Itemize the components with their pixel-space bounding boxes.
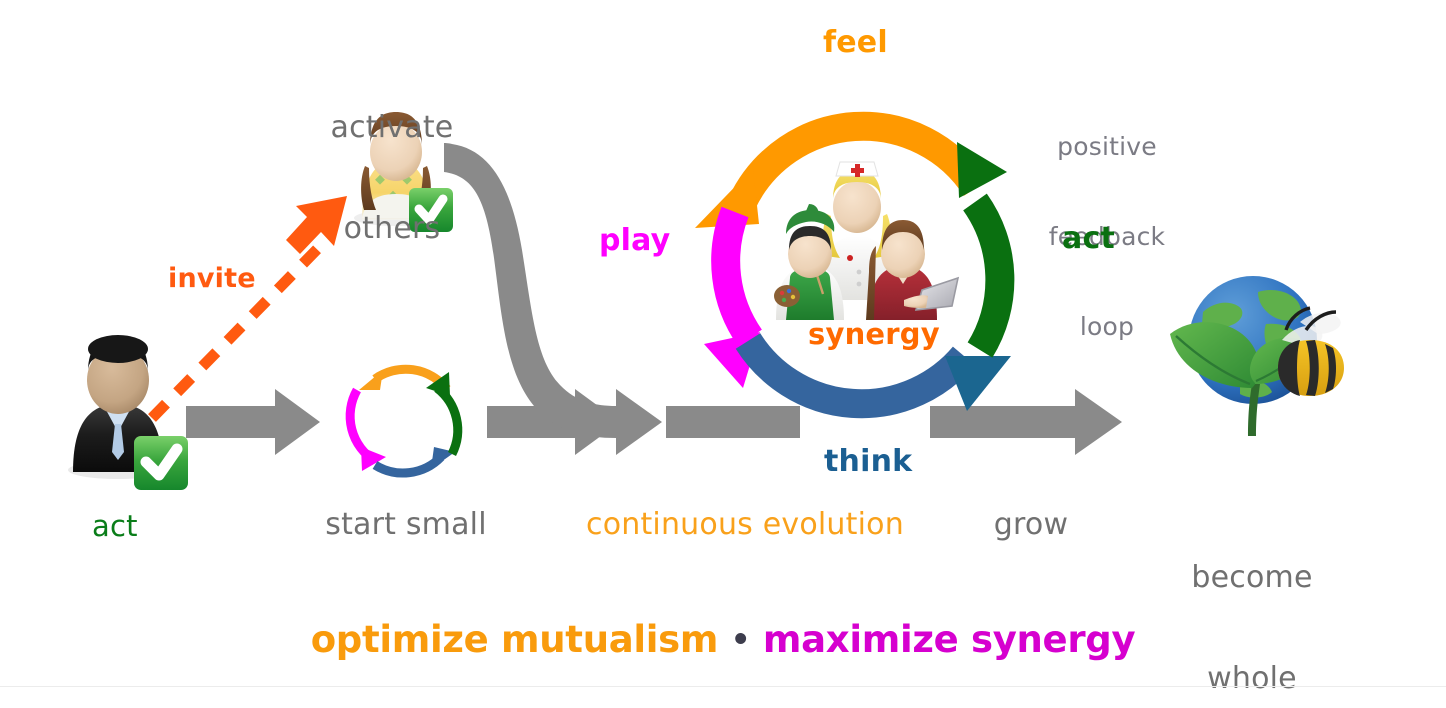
caption-maximize-synergy: maximize synergy xyxy=(763,618,1135,661)
stage-label-act: act xyxy=(92,510,138,542)
activate-others-line1: activate xyxy=(292,111,492,145)
label-invite: invite xyxy=(168,264,256,294)
cycle-label-play: play xyxy=(599,224,670,258)
bottom-divider xyxy=(0,686,1446,687)
bottom-caption: optimize mutualism • maximize synergy xyxy=(0,618,1446,661)
diagram-canvas: activate others invite positive feedback… xyxy=(0,0,1446,708)
caption-optimize-mutualism: optimize mutualism xyxy=(311,618,718,661)
cycle-label-act: act xyxy=(1062,222,1115,256)
people-group-icon xyxy=(774,162,958,320)
become-whole-line2: whole xyxy=(1162,662,1342,696)
stage-label-become-whole: become whole xyxy=(1162,494,1342,708)
earth-leaf-bee-icon xyxy=(1170,276,1344,436)
feedback-line3: loop xyxy=(1032,312,1182,342)
stage-label-continuous-evolution: continuous evolution xyxy=(586,508,904,542)
become-whole-line1: become xyxy=(1162,561,1342,595)
cycle-center-label-synergy: synergy xyxy=(808,318,940,350)
mini-cycle xyxy=(350,369,458,473)
label-activate-others: activate others xyxy=(292,44,492,313)
caption-separator-dot: • xyxy=(731,622,751,658)
cycle-label-think: think xyxy=(824,445,912,479)
activate-others-line2: others xyxy=(292,212,492,246)
cycle-label-feel: feel xyxy=(823,26,888,60)
feedback-line1: positive xyxy=(1032,132,1182,162)
stage-label-grow: grow xyxy=(956,508,1106,542)
stage-label-start-small: start small xyxy=(306,508,506,542)
green-check-badge-1 xyxy=(134,436,188,490)
